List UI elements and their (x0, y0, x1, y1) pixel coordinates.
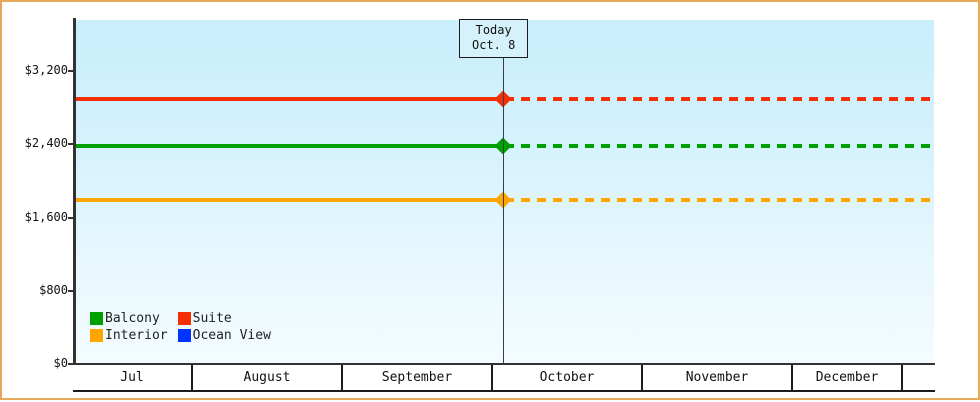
today-annotation-box: Today Oct. 8 (459, 19, 528, 58)
legend-swatch-interior-icon (90, 329, 103, 342)
series-line-balcony-solid (76, 144, 503, 148)
legend-swatch-ocean-view-icon (178, 329, 191, 342)
today-date: Oct. 8 (472, 38, 515, 53)
x-axis-cell-november[interactable]: November (643, 365, 793, 390)
x-axis-cell-august[interactable]: August (193, 365, 343, 390)
legend-item-suite[interactable]: Suite (178, 312, 271, 325)
series-line-suite-dashed (505, 97, 934, 101)
today-label: Today (472, 23, 515, 38)
x-axis-cell-partial[interactable] (903, 365, 935, 390)
y-tick-800 (68, 290, 76, 292)
x-axis-cell-jul[interactable]: Jul (73, 365, 193, 390)
legend-label-ocean-view: Ocean View (193, 329, 271, 342)
y-tick-3200 (68, 70, 76, 72)
y-tick-2400 (68, 143, 76, 145)
y-axis-label-800: $800 (4, 284, 68, 296)
legend-label-interior: Interior (105, 329, 168, 342)
legend-item-ocean-view[interactable]: Ocean View (178, 329, 271, 342)
price-trend-chart: $3,200 $2,400 $1,600 $800 $0 Today Oct. … (0, 0, 980, 400)
series-line-suite-solid (76, 97, 503, 101)
today-vertical-line (503, 20, 504, 364)
x-axis-cell-october[interactable]: October (493, 365, 643, 390)
x-axis-month-table: Jul August September October November De… (73, 365, 935, 392)
chart-legend: Balcony Suite Interior Ocean View (90, 312, 271, 342)
legend-item-balcony[interactable]: Balcony (90, 312, 168, 325)
legend-swatch-suite-icon (178, 312, 191, 325)
legend-label-balcony: Balcony (105, 312, 160, 325)
y-axis-label-1600: $1,600 (4, 211, 68, 223)
legend-swatch-balcony-icon (90, 312, 103, 325)
y-tick-1600 (68, 217, 76, 219)
legend-item-interior[interactable]: Interior (90, 329, 168, 342)
series-line-interior-dashed (505, 198, 934, 202)
y-axis-label-0: $0 (4, 357, 68, 369)
series-line-interior-solid (76, 198, 503, 202)
x-axis-cell-september[interactable]: September (343, 365, 493, 390)
x-axis-cell-december[interactable]: December (793, 365, 903, 390)
y-axis-label-3200: $3,200 (4, 64, 68, 76)
legend-label-suite: Suite (193, 312, 232, 325)
series-line-balcony-dashed (505, 144, 934, 148)
y-axis-label-2400: $2,400 (4, 137, 68, 149)
y-axis-labels: $3,200 $2,400 $1,600 $800 $0 (2, 2, 68, 402)
